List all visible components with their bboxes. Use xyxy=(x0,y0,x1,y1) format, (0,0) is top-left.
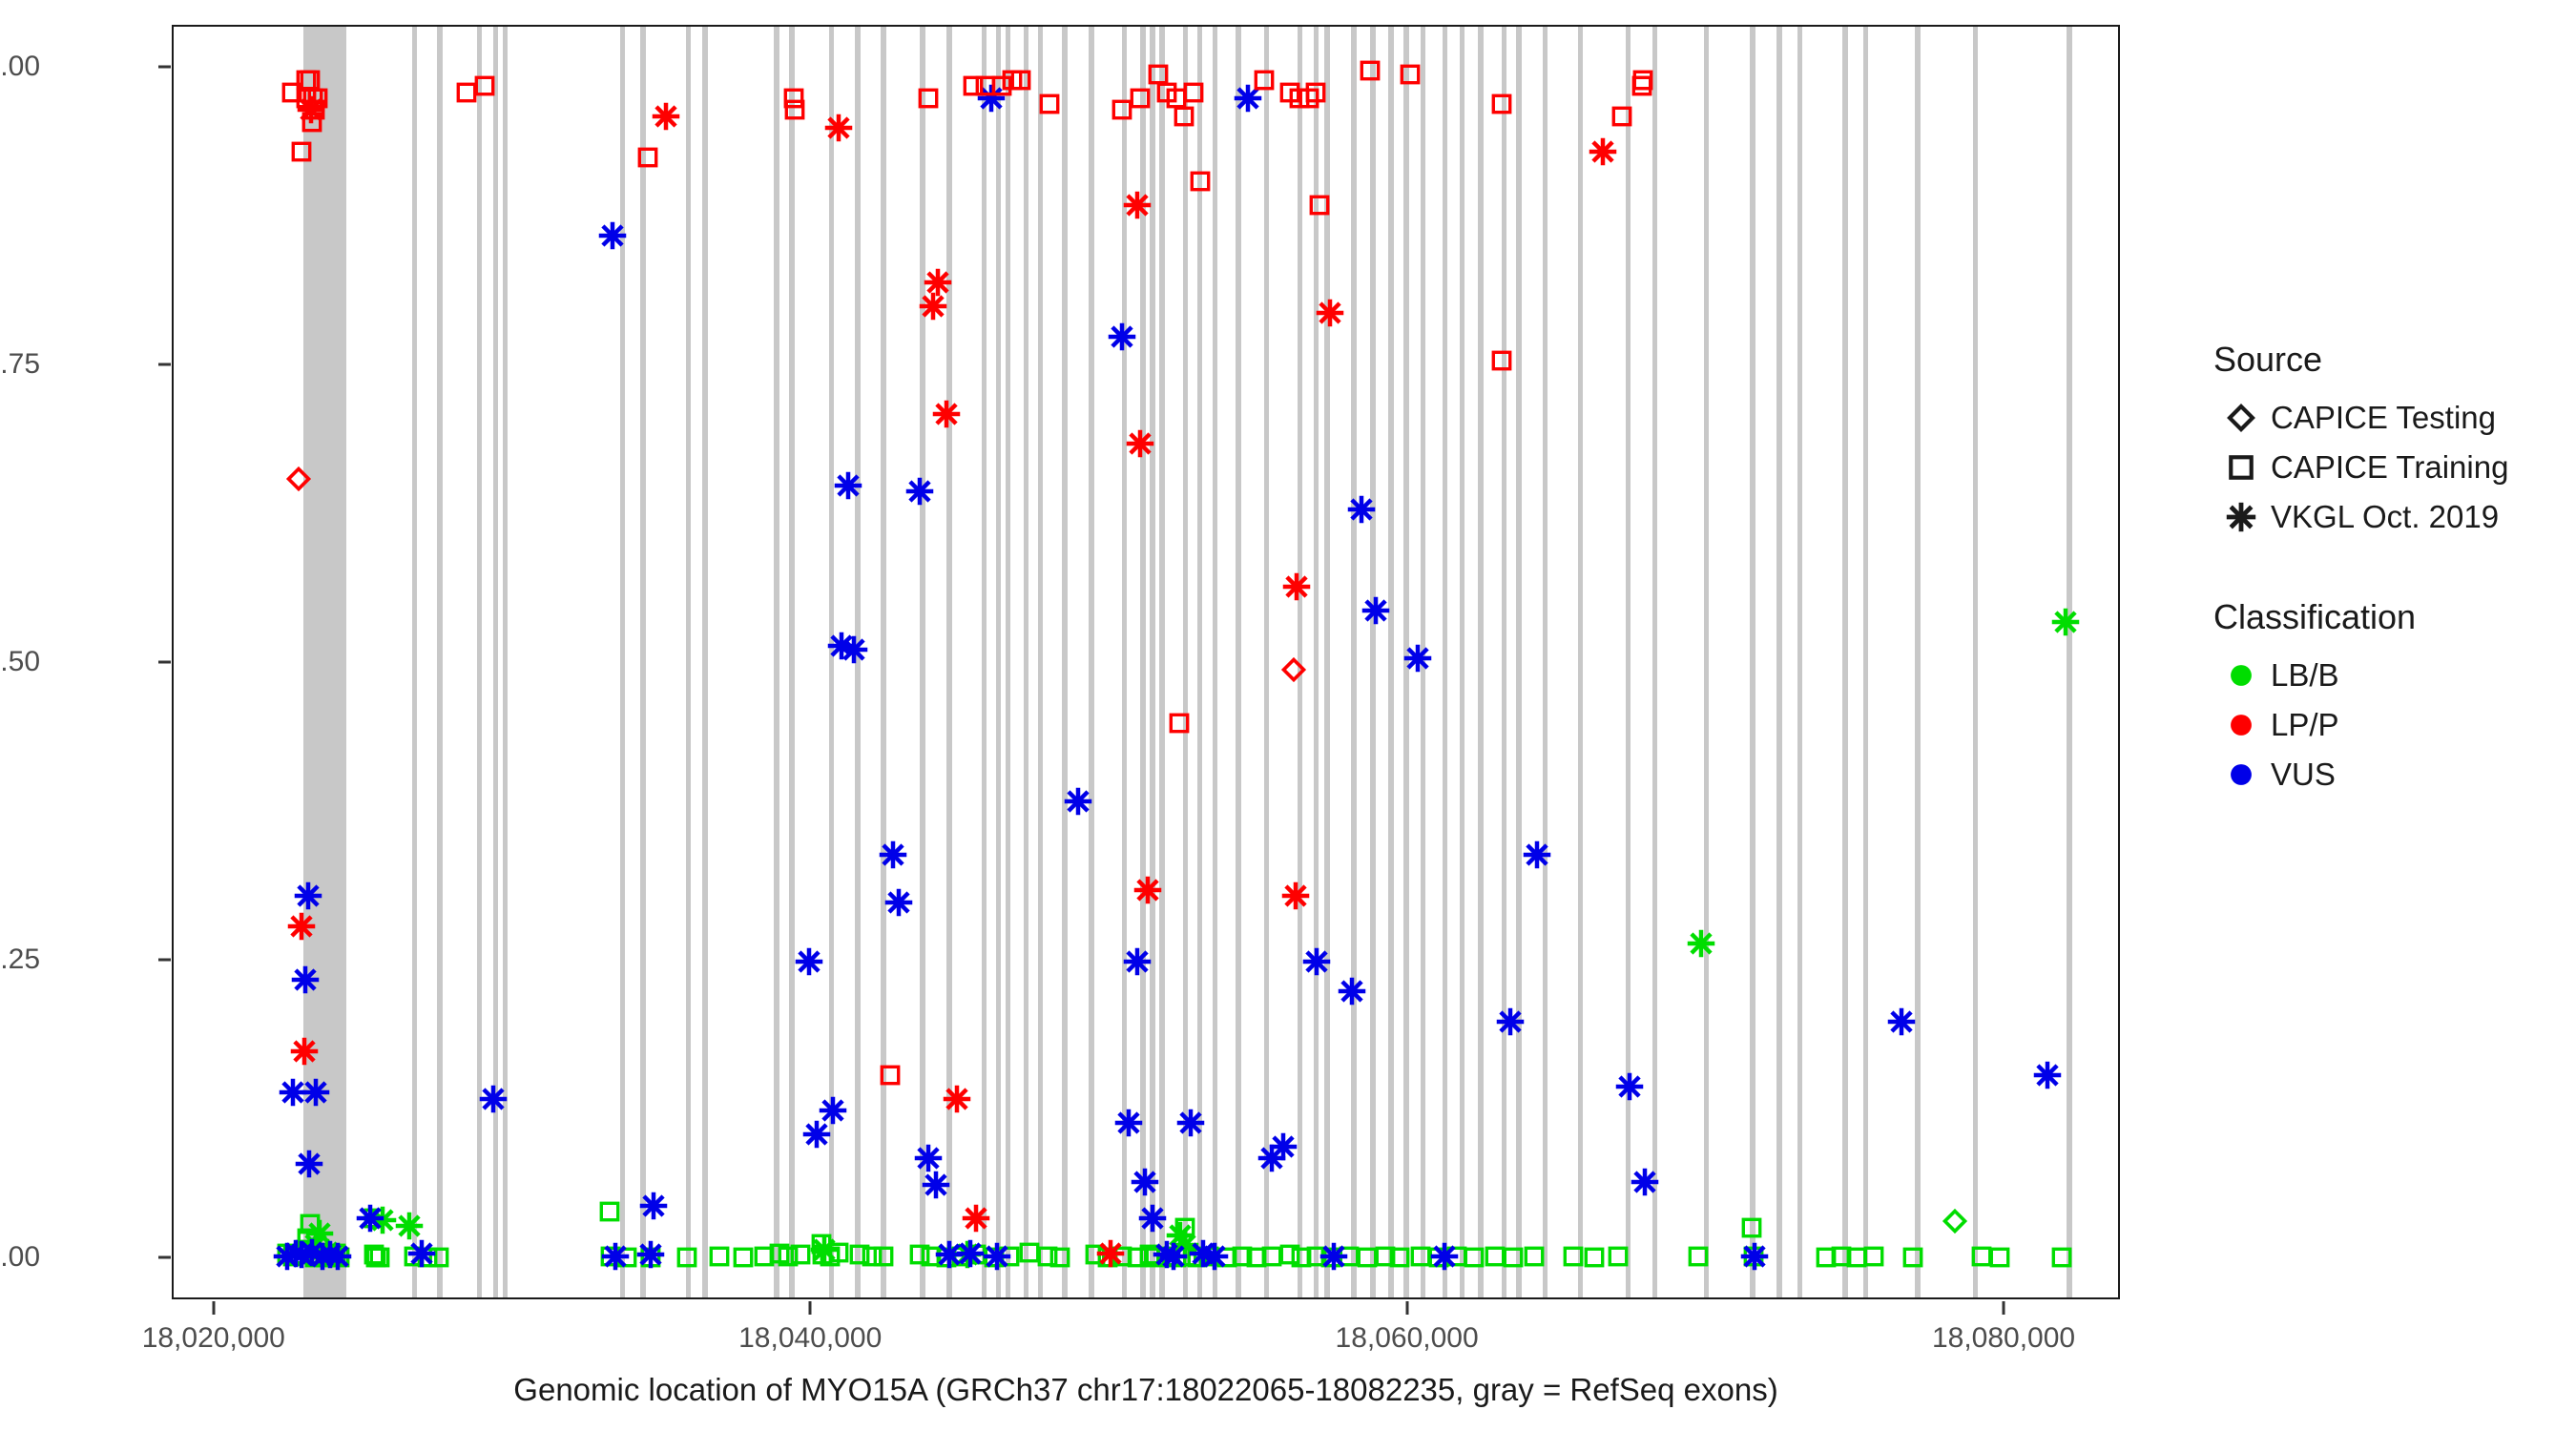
data-point xyxy=(1048,1245,1072,1270)
data-point xyxy=(1589,137,1617,166)
refseq-exon-band xyxy=(1652,27,1658,1297)
data-point xyxy=(472,73,497,98)
data-point xyxy=(639,1192,668,1220)
legend-item[interactable]: CAPICE Training xyxy=(2212,443,2565,492)
x-axis-tick-label: 18,020,000 xyxy=(142,1322,285,1355)
data-point xyxy=(1126,429,1154,458)
data-point xyxy=(1740,1242,1769,1271)
data-point xyxy=(1114,1109,1143,1137)
refseq-exon-band xyxy=(1460,27,1465,1297)
data-point xyxy=(1167,711,1192,736)
data-point xyxy=(1489,348,1514,373)
refseq-exon-band xyxy=(1024,27,1029,1297)
refseq-exon-band xyxy=(1863,27,1869,1297)
legend-item-label: CAPICE Testing xyxy=(2271,400,2496,436)
data-point xyxy=(1523,840,1551,869)
refseq-exon-band xyxy=(1213,27,1218,1297)
refseq-exon-band xyxy=(1038,27,1044,1297)
data-point xyxy=(2049,1245,2074,1270)
x-axis-title: Genomic location of MYO15A (GRCh37 chr17… xyxy=(172,1372,2120,1408)
x-axis-tick-mark xyxy=(1405,1301,1408,1315)
data-point xyxy=(1319,1242,1348,1271)
y-axis-tick-label: 0.50 xyxy=(0,646,40,678)
refseq-exon-band xyxy=(1197,27,1203,1297)
legend-item-label: VUS xyxy=(2271,757,2336,793)
legend-item[interactable]: CAPICE Testing xyxy=(2212,393,2565,443)
refseq-exon-band xyxy=(2067,27,2072,1297)
legend-item-label: LP/P xyxy=(2271,707,2339,743)
x-axis-tick-mark xyxy=(212,1301,215,1315)
data-point xyxy=(1133,876,1162,904)
data-point xyxy=(636,1240,665,1269)
refseq-exon-band xyxy=(920,27,925,1297)
refseq-exon-band xyxy=(1750,27,1755,1297)
data-point xyxy=(1430,1242,1459,1271)
legend-item[interactable]: LB/B xyxy=(2212,651,2565,700)
data-point xyxy=(707,1244,732,1269)
data-point xyxy=(479,1085,508,1113)
data-point xyxy=(1615,1072,1644,1101)
data-point xyxy=(1123,947,1152,976)
data-point xyxy=(1123,191,1152,219)
x-axis-tick-label: 18,080,000 xyxy=(1932,1322,2075,1355)
data-point xyxy=(675,1245,699,1270)
refseq-exon-band xyxy=(774,27,779,1297)
refseq-exon-band xyxy=(1516,27,1522,1297)
data-point xyxy=(289,139,314,164)
y-axis-tick-mark xyxy=(158,1256,171,1259)
refseq-exon-band xyxy=(789,27,795,1297)
y-axis-tick-mark xyxy=(158,65,171,68)
data-point xyxy=(395,1212,424,1240)
data-point xyxy=(919,292,947,321)
refseq-exon-band xyxy=(1388,27,1394,1297)
legend-item[interactable]: VUS xyxy=(2212,750,2565,799)
data-point xyxy=(1631,1168,1659,1196)
data-point xyxy=(1489,92,1514,116)
refseq-exon-band xyxy=(1159,27,1165,1297)
data-point xyxy=(905,477,934,506)
legend-item-label: CAPICE Training xyxy=(2271,449,2508,486)
legend: SourceCAPICE TestingCAPICE TrainingVKGL … xyxy=(2212,340,2565,799)
data-point xyxy=(1522,1244,1547,1269)
data-point xyxy=(1307,193,1332,218)
data-point xyxy=(1200,1242,1229,1271)
data-point xyxy=(819,1096,847,1125)
data-point xyxy=(916,86,941,111)
data-point xyxy=(598,221,627,250)
legend-title-source-legend: Source xyxy=(2213,340,2565,380)
data-point xyxy=(2033,1061,2062,1089)
refseq-exon-band xyxy=(1842,27,1848,1297)
data-point xyxy=(301,1078,330,1107)
data-point xyxy=(291,965,320,994)
data-point xyxy=(1108,322,1136,351)
data-point xyxy=(1302,947,1331,976)
data-point xyxy=(597,1199,622,1224)
refseq-exon-band xyxy=(1543,27,1548,1297)
data-point xyxy=(1687,929,1715,958)
data-point xyxy=(1064,787,1092,816)
y-axis-tick-mark xyxy=(158,661,171,664)
legend-item[interactable]: VKGL Oct. 2019 xyxy=(2212,492,2565,542)
x-axis-tick-label: 18,040,000 xyxy=(738,1322,882,1355)
data-point xyxy=(1280,656,1307,683)
data-point xyxy=(824,114,853,142)
refseq-exon-band xyxy=(1915,27,1921,1297)
data-point xyxy=(1176,1109,1205,1137)
legend-item-label: LB/B xyxy=(2271,657,2339,694)
data-point xyxy=(1347,495,1376,524)
data-point xyxy=(956,1239,985,1268)
circle-icon xyxy=(2212,761,2271,788)
capice-scatter-plot-figure: CAPICE score (pathogenicity estimate) 0.… xyxy=(0,0,2576,1431)
data-point xyxy=(1358,58,1382,83)
refseq-exon-band xyxy=(982,27,987,1297)
refseq-exon-band xyxy=(1370,27,1376,1297)
refseq-exon-band xyxy=(437,27,443,1297)
legend-title-classification-legend: Classification xyxy=(2213,597,2565,637)
x-axis-tick-mark xyxy=(809,1301,812,1315)
refseq-exon-band xyxy=(702,27,708,1297)
data-point xyxy=(1037,92,1062,116)
data-point xyxy=(367,1245,392,1270)
data-point xyxy=(1269,1132,1298,1161)
refseq-exon-band xyxy=(1578,27,1584,1297)
data-point xyxy=(356,1204,384,1233)
data-point xyxy=(1582,1245,1607,1270)
square-icon xyxy=(2212,452,2271,483)
data-point xyxy=(1610,104,1634,129)
refseq-exon-band xyxy=(686,27,692,1297)
data-point xyxy=(635,145,660,170)
data-point xyxy=(914,1144,943,1172)
data-point xyxy=(601,1242,630,1271)
legend-group-spacer xyxy=(2212,542,2565,597)
refseq-exon-band xyxy=(1704,27,1710,1297)
data-point xyxy=(1338,977,1366,1006)
refseq-exon-band xyxy=(1797,27,1803,1297)
data-point xyxy=(1606,1244,1631,1269)
data-point xyxy=(884,888,913,917)
data-point xyxy=(1282,572,1311,601)
data-point xyxy=(1686,1244,1711,1269)
data-point xyxy=(285,466,312,492)
data-point xyxy=(840,635,868,664)
data-point xyxy=(878,1063,903,1088)
data-point xyxy=(1281,881,1310,910)
y-axis-tick-label: 1.00 xyxy=(0,51,40,83)
data-point xyxy=(295,1150,323,1178)
data-point xyxy=(287,912,316,941)
data-point xyxy=(290,1037,319,1066)
data-point xyxy=(1901,1245,1925,1270)
data-point xyxy=(1297,86,1321,111)
data-point xyxy=(323,1242,352,1271)
y-axis-tick-mark xyxy=(158,363,171,365)
data-point xyxy=(1887,1007,1916,1036)
data-point xyxy=(1987,1245,2012,1270)
refseq-exon-band xyxy=(1973,27,1979,1297)
data-point xyxy=(810,1235,839,1264)
y-axis-tick-label: 0.25 xyxy=(0,944,40,976)
refseq-exon-band xyxy=(1351,27,1357,1297)
data-point xyxy=(1942,1208,1968,1234)
data-point xyxy=(983,1242,1011,1271)
y-axis-tick-label: 0.75 xyxy=(0,348,40,381)
data-point xyxy=(1188,169,1213,194)
data-point xyxy=(1096,1239,1125,1268)
data-point xyxy=(1008,68,1033,93)
refseq-exon-band xyxy=(996,27,1002,1297)
data-point xyxy=(1159,1242,1188,1271)
refseq-exon-band xyxy=(1776,27,1782,1297)
data-point xyxy=(795,947,823,976)
data-point xyxy=(1403,644,1432,673)
data-point xyxy=(834,471,862,500)
plot-panel xyxy=(172,25,2120,1299)
refseq-exon-band xyxy=(1062,27,1068,1297)
data-point xyxy=(1739,1215,1764,1240)
data-point xyxy=(1128,86,1153,111)
data-point xyxy=(1361,596,1390,625)
asterisk-icon xyxy=(2212,502,2271,532)
data-point xyxy=(294,881,322,910)
circle-icon xyxy=(2212,712,2271,738)
refseq-exon-band xyxy=(1183,27,1189,1297)
data-point xyxy=(1138,1204,1167,1233)
data-point xyxy=(962,1204,990,1233)
refseq-exon-band xyxy=(881,27,886,1297)
data-point xyxy=(1398,62,1423,87)
refseq-exon-band xyxy=(1502,27,1507,1297)
data-point xyxy=(652,102,680,131)
data-point xyxy=(1131,1168,1159,1196)
legend-item[interactable]: LP/P xyxy=(2212,700,2565,750)
data-point xyxy=(1630,73,1654,98)
data-point xyxy=(407,1239,436,1268)
data-point xyxy=(2051,608,2080,636)
data-point xyxy=(922,1171,950,1199)
data-point xyxy=(1172,104,1196,129)
refseq-exon-band xyxy=(1443,27,1448,1297)
data-point xyxy=(1316,299,1344,327)
y-axis-tick-mark xyxy=(158,959,171,962)
refseq-exon-band xyxy=(1089,27,1094,1297)
data-point xyxy=(781,86,806,111)
refseq-exon-band xyxy=(1264,27,1270,1297)
x-axis-tick-mark xyxy=(2003,1301,2005,1315)
refseq-exon-band xyxy=(1626,27,1631,1297)
refseq-exon-band xyxy=(412,27,418,1297)
data-point xyxy=(1181,80,1206,105)
refseq-exon-band xyxy=(1236,27,1241,1297)
circle-icon xyxy=(2212,662,2271,689)
y-axis-tick-label: 0.00 xyxy=(0,1241,40,1274)
data-point xyxy=(943,1085,971,1113)
refseq-exon-band xyxy=(1478,27,1484,1297)
data-point xyxy=(879,840,907,869)
refseq-exon-band xyxy=(620,27,626,1297)
data-point xyxy=(1496,1007,1525,1036)
refseq-exon-band xyxy=(1006,27,1011,1297)
legend-item-label: VKGL Oct. 2019 xyxy=(2271,499,2499,535)
data-point xyxy=(1252,68,1277,93)
data-point xyxy=(932,400,961,428)
data-point xyxy=(297,95,325,124)
data-point xyxy=(1861,1244,1886,1269)
data-point xyxy=(871,1244,896,1269)
plot-panel-wrap xyxy=(172,25,2120,1299)
refseq-exon-band xyxy=(640,27,646,1297)
diamond-icon xyxy=(2212,403,2271,433)
x-axis-tick-label: 18,060,000 xyxy=(1336,1322,1479,1355)
